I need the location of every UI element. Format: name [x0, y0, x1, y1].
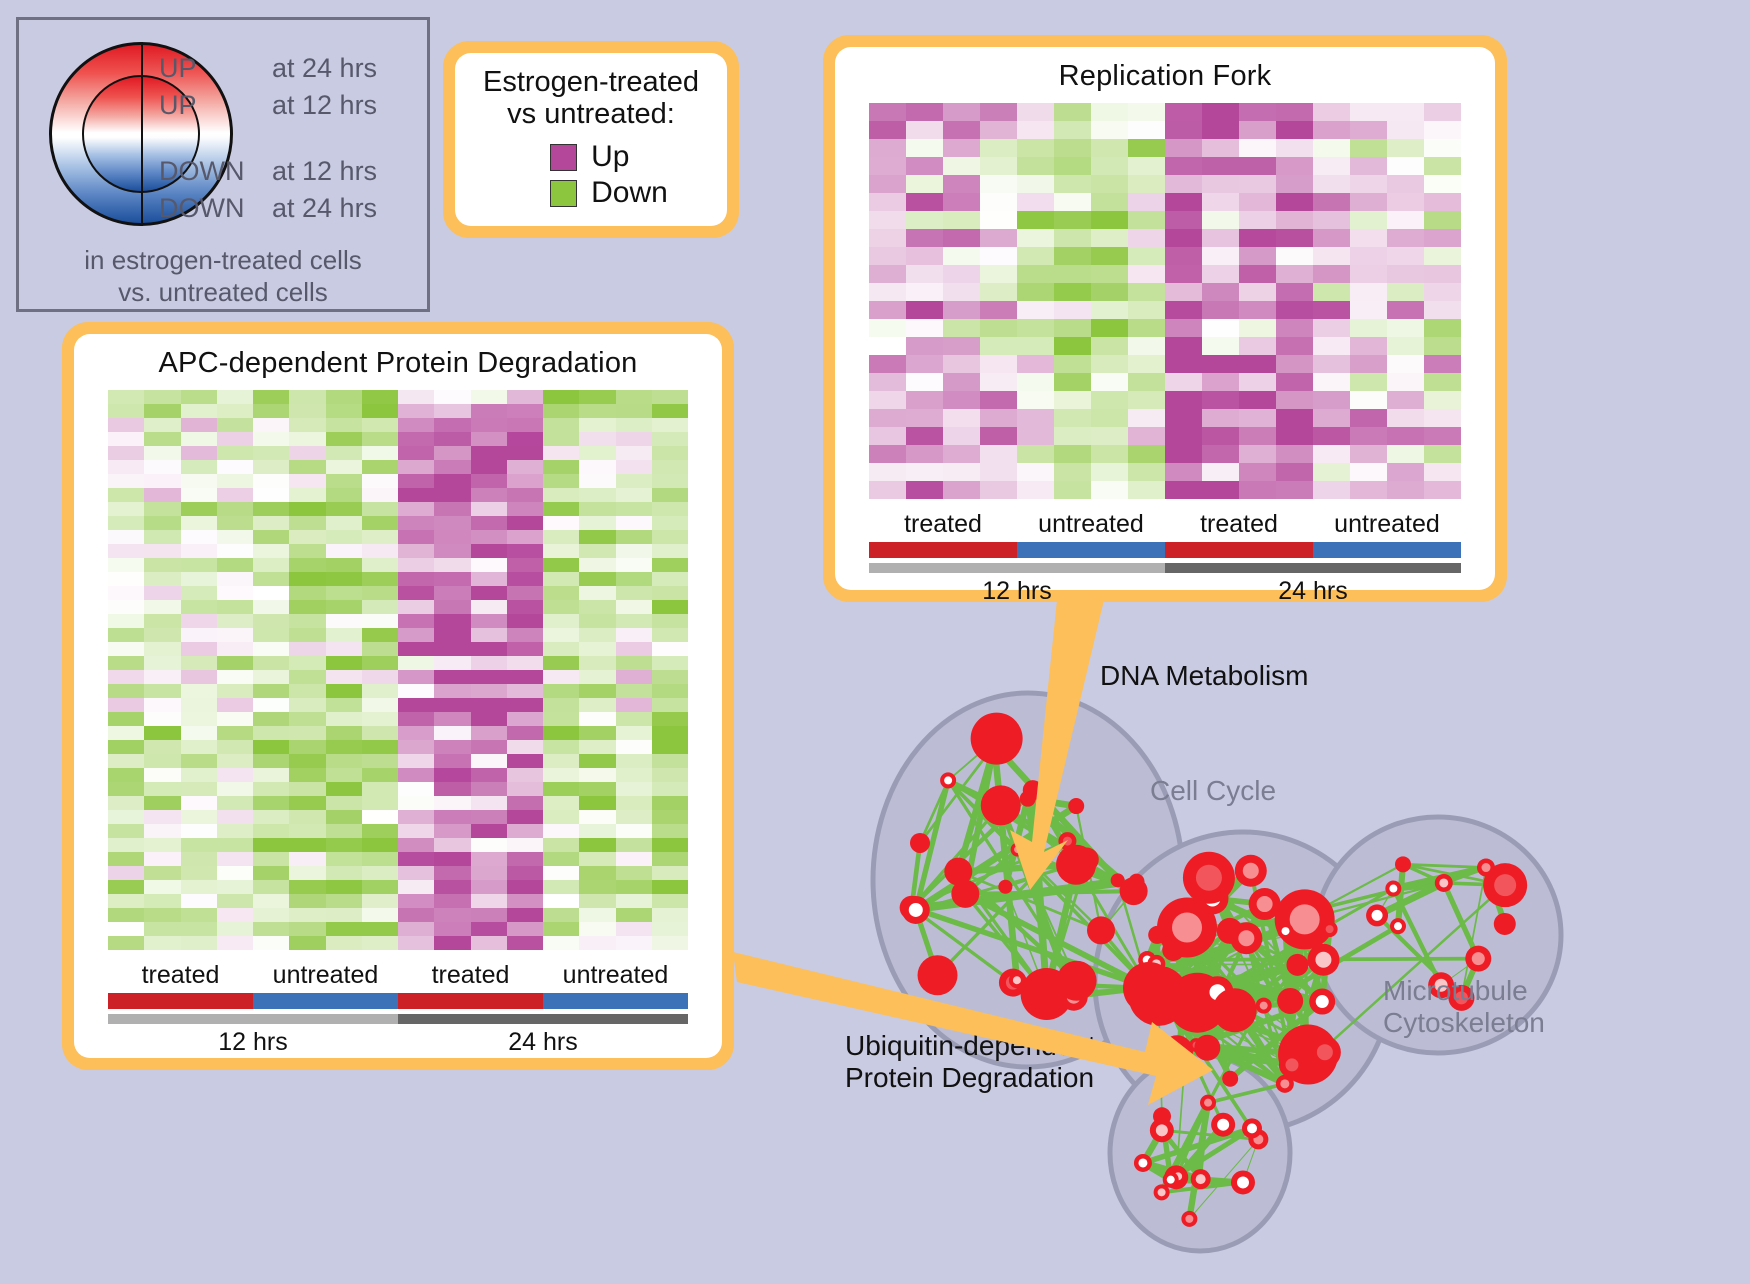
heatmap-cell — [1054, 121, 1091, 139]
heatmap-cell — [398, 502, 434, 516]
heatmap-cell — [579, 754, 615, 768]
heatmap-cell — [616, 558, 652, 572]
heatmap-cell — [434, 782, 470, 796]
heatmap-cell — [616, 796, 652, 810]
network-node — [1256, 998, 1272, 1014]
heatmap-cell — [1017, 373, 1054, 391]
heatmap-cell — [181, 502, 217, 516]
heatmap-cell — [434, 908, 470, 922]
heatmap-cell — [253, 908, 289, 922]
heatmap-cell — [543, 796, 579, 810]
heatmap-cell — [1239, 481, 1276, 499]
heatmap-cell — [1165, 373, 1202, 391]
heatmap-cell — [289, 880, 325, 894]
heatmap-cell — [289, 670, 325, 684]
legend-row-down-12: DOWNat 12 hrs — [159, 156, 377, 187]
heatmap-cell — [507, 502, 543, 516]
heatmap-cell — [108, 698, 144, 712]
heatmap-cell — [362, 614, 398, 628]
heatmap-cell — [144, 684, 180, 698]
heatmap-cell — [181, 432, 217, 446]
heatmap-cell — [543, 852, 579, 866]
heatmap-cell — [616, 516, 652, 530]
condition-bar-segment — [253, 993, 398, 1009]
heatmap-cell — [217, 810, 253, 824]
heatmap-cell — [1091, 211, 1128, 229]
heatmap-cell — [616, 502, 652, 516]
heatmap-cell — [108, 754, 144, 768]
heatmap-cell — [434, 418, 470, 432]
heatmap-cell — [1165, 355, 1202, 373]
network-node — [1477, 859, 1495, 877]
heatmap-cell — [253, 502, 289, 516]
heatmap-cell — [144, 572, 180, 586]
heatmap-cell — [579, 390, 615, 404]
heatmap-cell — [217, 684, 253, 698]
heatmap-cell — [906, 319, 943, 337]
heatmap-cell — [1350, 301, 1387, 319]
heatmap-cell — [289, 460, 325, 474]
heatmap-cell — [326, 558, 362, 572]
heatmap-cell — [471, 642, 507, 656]
heatmap-cell — [434, 936, 470, 950]
heatmap-cell — [253, 656, 289, 670]
heatmap-cell — [507, 670, 543, 684]
heatmap-cell — [253, 796, 289, 810]
heatmap-cell — [181, 670, 217, 684]
network-node — [1011, 843, 1025, 857]
heatmap-cell — [362, 516, 398, 530]
heatmap-cell — [980, 409, 1017, 427]
heatmap-cell — [326, 586, 362, 600]
network-node — [1278, 923, 1294, 939]
heatmap-cell — [108, 516, 144, 530]
heatmap-cell — [652, 684, 688, 698]
heatmap-cell — [1313, 229, 1350, 247]
network-node — [1307, 944, 1339, 976]
heatmap-cell — [1128, 409, 1165, 427]
heatmap-cell — [616, 586, 652, 600]
heatmap-cell — [362, 488, 398, 502]
heatmap-cell — [289, 432, 325, 446]
heatmap-cell — [108, 796, 144, 810]
heatmap-cell — [507, 642, 543, 656]
heatmap-cell — [980, 265, 1017, 283]
heatmap-cell — [507, 600, 543, 614]
heatmap-cell — [1165, 175, 1202, 193]
heatmap-cell — [652, 908, 688, 922]
heatmap-cell — [181, 642, 217, 656]
heatmap-cell — [1424, 445, 1461, 463]
heatmap-cell — [217, 712, 253, 726]
heatmap-cell — [543, 908, 579, 922]
heatmap-cell — [1276, 445, 1313, 463]
heatmap-cell — [1128, 427, 1165, 445]
heatmap-cell — [652, 516, 688, 530]
heatmap-cell — [869, 229, 906, 247]
heatmap-cell — [906, 139, 943, 157]
heatmap-cell — [362, 460, 398, 474]
key-title-line1: Estrogen-treated — [483, 67, 699, 99]
heatmap-cell — [217, 502, 253, 516]
heatmap-cell — [217, 530, 253, 544]
heatmap-cell — [253, 838, 289, 852]
heatmap-cell — [579, 936, 615, 950]
heatmap-cell — [616, 824, 652, 838]
heatmap-cell — [253, 894, 289, 908]
heatmap-cell — [1202, 175, 1239, 193]
heatmap-cell — [326, 782, 362, 796]
heatmap-cell — [1276, 427, 1313, 445]
heatmap-cell — [471, 544, 507, 558]
legend-key: DOWN — [159, 193, 272, 224]
heatmap-cell — [1202, 139, 1239, 157]
heatmap-cell — [1239, 193, 1276, 211]
heatmap-cell — [289, 922, 325, 936]
heatmap-cell — [906, 427, 943, 445]
heatmap-cell — [108, 474, 144, 488]
heatmap-cell — [434, 712, 470, 726]
heatmap-cell — [906, 157, 943, 175]
heatmap-cell — [869, 319, 906, 337]
heatmap-cell — [507, 418, 543, 432]
heatmap-cell — [652, 628, 688, 642]
heatmap-cell — [108, 908, 144, 922]
heatmap-cell — [326, 838, 362, 852]
heatmap-cell — [616, 614, 652, 628]
heatmap-cell — [579, 502, 615, 516]
heatmap-cell — [943, 175, 980, 193]
heatmap-cell — [1017, 283, 1054, 301]
heatmap-cell — [1017, 229, 1054, 247]
heatmap-cell — [398, 572, 434, 586]
heatmap-cell — [507, 698, 543, 712]
heatmap-cell — [906, 121, 943, 139]
heatmap-cell — [1202, 463, 1239, 481]
legend-footer-line2: vs. untreated cells — [19, 277, 427, 309]
network-node — [1200, 1095, 1216, 1111]
heatmap-cell — [616, 880, 652, 894]
heatmap-cell — [434, 516, 470, 530]
heatmap-cell — [289, 740, 325, 754]
heatmap-cell — [1128, 337, 1165, 355]
heatmap-cell — [144, 670, 180, 684]
legend-key: UP — [159, 90, 272, 121]
heatmap-cell — [362, 502, 398, 516]
heatmap-cell — [108, 936, 144, 950]
heatmap-cell — [1276, 301, 1313, 319]
heatmap-cell — [108, 544, 144, 558]
heatmap-cell — [289, 418, 325, 432]
heatmap-cell — [980, 373, 1017, 391]
heatmap-cell — [326, 642, 362, 656]
heatmap-cell — [579, 852, 615, 866]
heatmap-cell — [616, 390, 652, 404]
heatmap-cell — [1017, 121, 1054, 139]
heatmap-cell — [1054, 175, 1091, 193]
heatmap-cell — [652, 642, 688, 656]
heatmap-cell — [616, 684, 652, 698]
heatmap-cell — [398, 628, 434, 642]
heatmap-cell — [579, 838, 615, 852]
cluster-label-ubiquitin-degradation: Ubiquitin-dependent Protein Degradation — [845, 1030, 1096, 1094]
heatmap-cell — [543, 432, 579, 446]
heatmap-cell — [616, 768, 652, 782]
heatmap-cell — [144, 502, 180, 516]
heatmap-cell — [434, 922, 470, 936]
heatmap-cell — [652, 768, 688, 782]
network-node — [1435, 874, 1453, 892]
heatmap-cell — [579, 824, 615, 838]
heatmap-cell — [471, 558, 507, 572]
network-node — [1075, 848, 1099, 872]
heatmap-cell — [1017, 463, 1054, 481]
heatmap-cell — [108, 446, 144, 460]
heatmap-cell — [398, 726, 434, 740]
heatmap-replication-fork — [869, 103, 1461, 499]
network-node — [940, 772, 956, 788]
heatmap-cell — [1424, 355, 1461, 373]
network-node — [1465, 946, 1491, 972]
heatmap-cell — [144, 740, 180, 754]
heatmap-cell — [434, 558, 470, 572]
heatmap-cell — [434, 768, 470, 782]
heatmap-cell — [217, 754, 253, 768]
heatmap-cell — [507, 712, 543, 726]
heatmap-cell — [1350, 193, 1387, 211]
network-node — [1134, 1154, 1152, 1172]
heatmap-cell — [144, 600, 180, 614]
legend-time: at 12 hrs — [272, 156, 377, 187]
network-node — [1222, 1071, 1238, 1087]
heatmap-cell — [543, 516, 579, 530]
heatmap-cell — [217, 880, 253, 894]
heatmap-cell — [1313, 391, 1350, 409]
heatmap-cell — [144, 936, 180, 950]
heatmap-cell — [326, 810, 362, 824]
heatmap-cell — [253, 866, 289, 880]
heatmap-cell — [289, 404, 325, 418]
heatmap-cell — [1017, 391, 1054, 409]
network-node — [910, 833, 930, 853]
heatmap-cell — [398, 796, 434, 810]
heatmap-cell — [507, 544, 543, 558]
network-node — [1242, 1118, 1262, 1138]
heatmap-cell — [616, 488, 652, 502]
heatmap-cell — [144, 880, 180, 894]
heatmap-cell — [579, 810, 615, 824]
heatmap-cell — [1054, 193, 1091, 211]
heatmap-cell — [398, 446, 434, 460]
heatmap-cell — [1202, 319, 1239, 337]
heatmap-cell — [1202, 301, 1239, 319]
heatmap-axis-replication-fork: treated untreated treated untreated 12 h — [869, 510, 1461, 606]
heatmap-cell — [1239, 427, 1276, 445]
heatmap-cell — [579, 768, 615, 782]
heatmap-cell — [398, 768, 434, 782]
heatmap-cell — [1054, 211, 1091, 229]
legend-row-up-12: UPat 12 hrs — [159, 90, 377, 121]
heatmap-cell — [507, 390, 543, 404]
heatmap-cell — [1054, 355, 1091, 373]
heatmap-cell — [1424, 337, 1461, 355]
heatmap-cell — [217, 558, 253, 572]
heatmap-cell — [1054, 391, 1091, 409]
heatmap-cell — [217, 432, 253, 446]
heatmap-cell — [1017, 337, 1054, 355]
heatmap-cell — [579, 698, 615, 712]
heatmap-cell — [362, 418, 398, 432]
heatmap-cell — [1424, 157, 1461, 175]
heatmap-cell — [906, 301, 943, 319]
heatmap-cell — [579, 446, 615, 460]
heatmap-cell — [1091, 229, 1128, 247]
heatmap-cell — [253, 782, 289, 796]
heatmap-cell — [507, 810, 543, 824]
heatmap-cell — [943, 247, 980, 265]
network-node — [998, 880, 1012, 894]
heatmap-cell — [1202, 229, 1239, 247]
heatmap-cell — [471, 614, 507, 628]
heatmap-cell — [1350, 211, 1387, 229]
heatmap-cell — [1128, 121, 1165, 139]
heatmap-cell — [1276, 319, 1313, 337]
condition-label: untreated — [1017, 510, 1165, 539]
heatmap-cell — [1276, 283, 1313, 301]
heatmap-cell — [1165, 445, 1202, 463]
heatmap-cell — [869, 409, 906, 427]
heatmap-cell — [181, 712, 217, 726]
heatmap-cell — [326, 684, 362, 698]
heatmap-cell — [543, 460, 579, 474]
heatmap-cell — [289, 782, 325, 796]
heatmap-cell — [1424, 229, 1461, 247]
heatmap-cell — [869, 157, 906, 175]
heatmap-cell — [326, 544, 362, 558]
heatmap-cell — [980, 355, 1017, 373]
heatmap-cell — [1202, 211, 1239, 229]
heatmap-cell — [869, 355, 906, 373]
heatmap-cell — [398, 600, 434, 614]
heatmap-cell — [471, 768, 507, 782]
heatmap-cell — [434, 740, 470, 754]
heatmap-cell — [579, 488, 615, 502]
heatmap-cell — [362, 684, 398, 698]
condition-labels: treated untreated treated untreated — [869, 510, 1461, 539]
heatmap-cell — [362, 824, 398, 838]
heatmap-cell — [398, 810, 434, 824]
heatmap-cell — [217, 474, 253, 488]
heatmap-cell — [1091, 427, 1128, 445]
heatmap-cell — [1054, 373, 1091, 391]
heatmap-cell — [362, 754, 398, 768]
heatmap-cell — [1387, 337, 1424, 355]
heatmap-cell — [1313, 283, 1350, 301]
heatmap-cell — [1424, 175, 1461, 193]
heatmap-cell — [471, 782, 507, 796]
heatmap-cell — [217, 586, 253, 600]
heatmap-cell — [471, 922, 507, 936]
heatmap-cell — [1387, 103, 1424, 121]
heatmap-cell — [108, 600, 144, 614]
heatmap-cell — [434, 866, 470, 880]
heatmap-cell — [652, 712, 688, 726]
heatmap-cell — [980, 229, 1017, 247]
heatmap-cell — [652, 502, 688, 516]
heatmap-cell — [616, 894, 652, 908]
network-node — [1309, 989, 1335, 1015]
network-node — [1058, 832, 1076, 850]
heatmap-cell — [108, 712, 144, 726]
heatmap-cell — [943, 211, 980, 229]
heatmap-cell — [869, 463, 906, 481]
network-node — [1366, 904, 1388, 926]
heatmap-cell — [1276, 481, 1313, 499]
heatmap-cell — [1202, 283, 1239, 301]
heatmap-cell — [434, 810, 470, 824]
heatmap-cell — [434, 614, 470, 628]
heatmap-cell — [181, 600, 217, 614]
heatmap-cell — [1387, 247, 1424, 265]
heatmap-cell — [543, 894, 579, 908]
heatmap-cell — [543, 642, 579, 656]
heatmap-cell — [362, 894, 398, 908]
heatmap-cell — [943, 121, 980, 139]
heatmap-cell — [943, 355, 980, 373]
heatmap-cell — [471, 502, 507, 516]
heatmap-cell — [1350, 427, 1387, 445]
heatmap-cell — [217, 782, 253, 796]
heatmap-cell — [217, 600, 253, 614]
heatmap-cell — [869, 481, 906, 499]
condition-bar-segment — [1017, 542, 1165, 558]
heatmap-cell — [108, 418, 144, 432]
heatmap-cell — [398, 712, 434, 726]
heatmap-cell — [362, 530, 398, 544]
time-bar-segment — [108, 1014, 398, 1024]
heatmap-cell — [253, 600, 289, 614]
heatmap-cell — [1091, 283, 1128, 301]
heatmap-cell — [1165, 283, 1202, 301]
heatmap-cell — [652, 880, 688, 894]
heatmap-cell — [1424, 283, 1461, 301]
heatmap-cell — [906, 103, 943, 121]
heatmap-cell — [398, 754, 434, 768]
heatmap-cell — [1128, 445, 1165, 463]
heatmap-cell — [906, 373, 943, 391]
heatmap-cell — [906, 229, 943, 247]
heatmap-cell — [616, 698, 652, 712]
heatmap-cell — [1091, 355, 1128, 373]
heatmap-cell — [652, 698, 688, 712]
heatmap-cell — [1387, 175, 1424, 193]
network-node — [1213, 988, 1257, 1032]
heatmap-cell — [471, 866, 507, 880]
cluster-label-dna-metabolism: DNA Metabolism — [1100, 660, 1309, 692]
heatmap-cell — [616, 922, 652, 936]
heatmap-cell — [980, 193, 1017, 211]
heatmap-cell — [253, 768, 289, 782]
heatmap-cell — [108, 838, 144, 852]
network-diagram: DNA Metabolism Cell Cycle Microtubule Cy… — [800, 600, 1750, 1279]
heatmap-cell — [507, 446, 543, 460]
heatmap-cell — [1313, 193, 1350, 211]
heatmap-cell — [398, 838, 434, 852]
heatmap-cell — [1239, 445, 1276, 463]
heatmap-cell — [289, 796, 325, 810]
heatmap-cell — [1239, 175, 1276, 193]
time-label: 12 hrs — [108, 1028, 398, 1057]
